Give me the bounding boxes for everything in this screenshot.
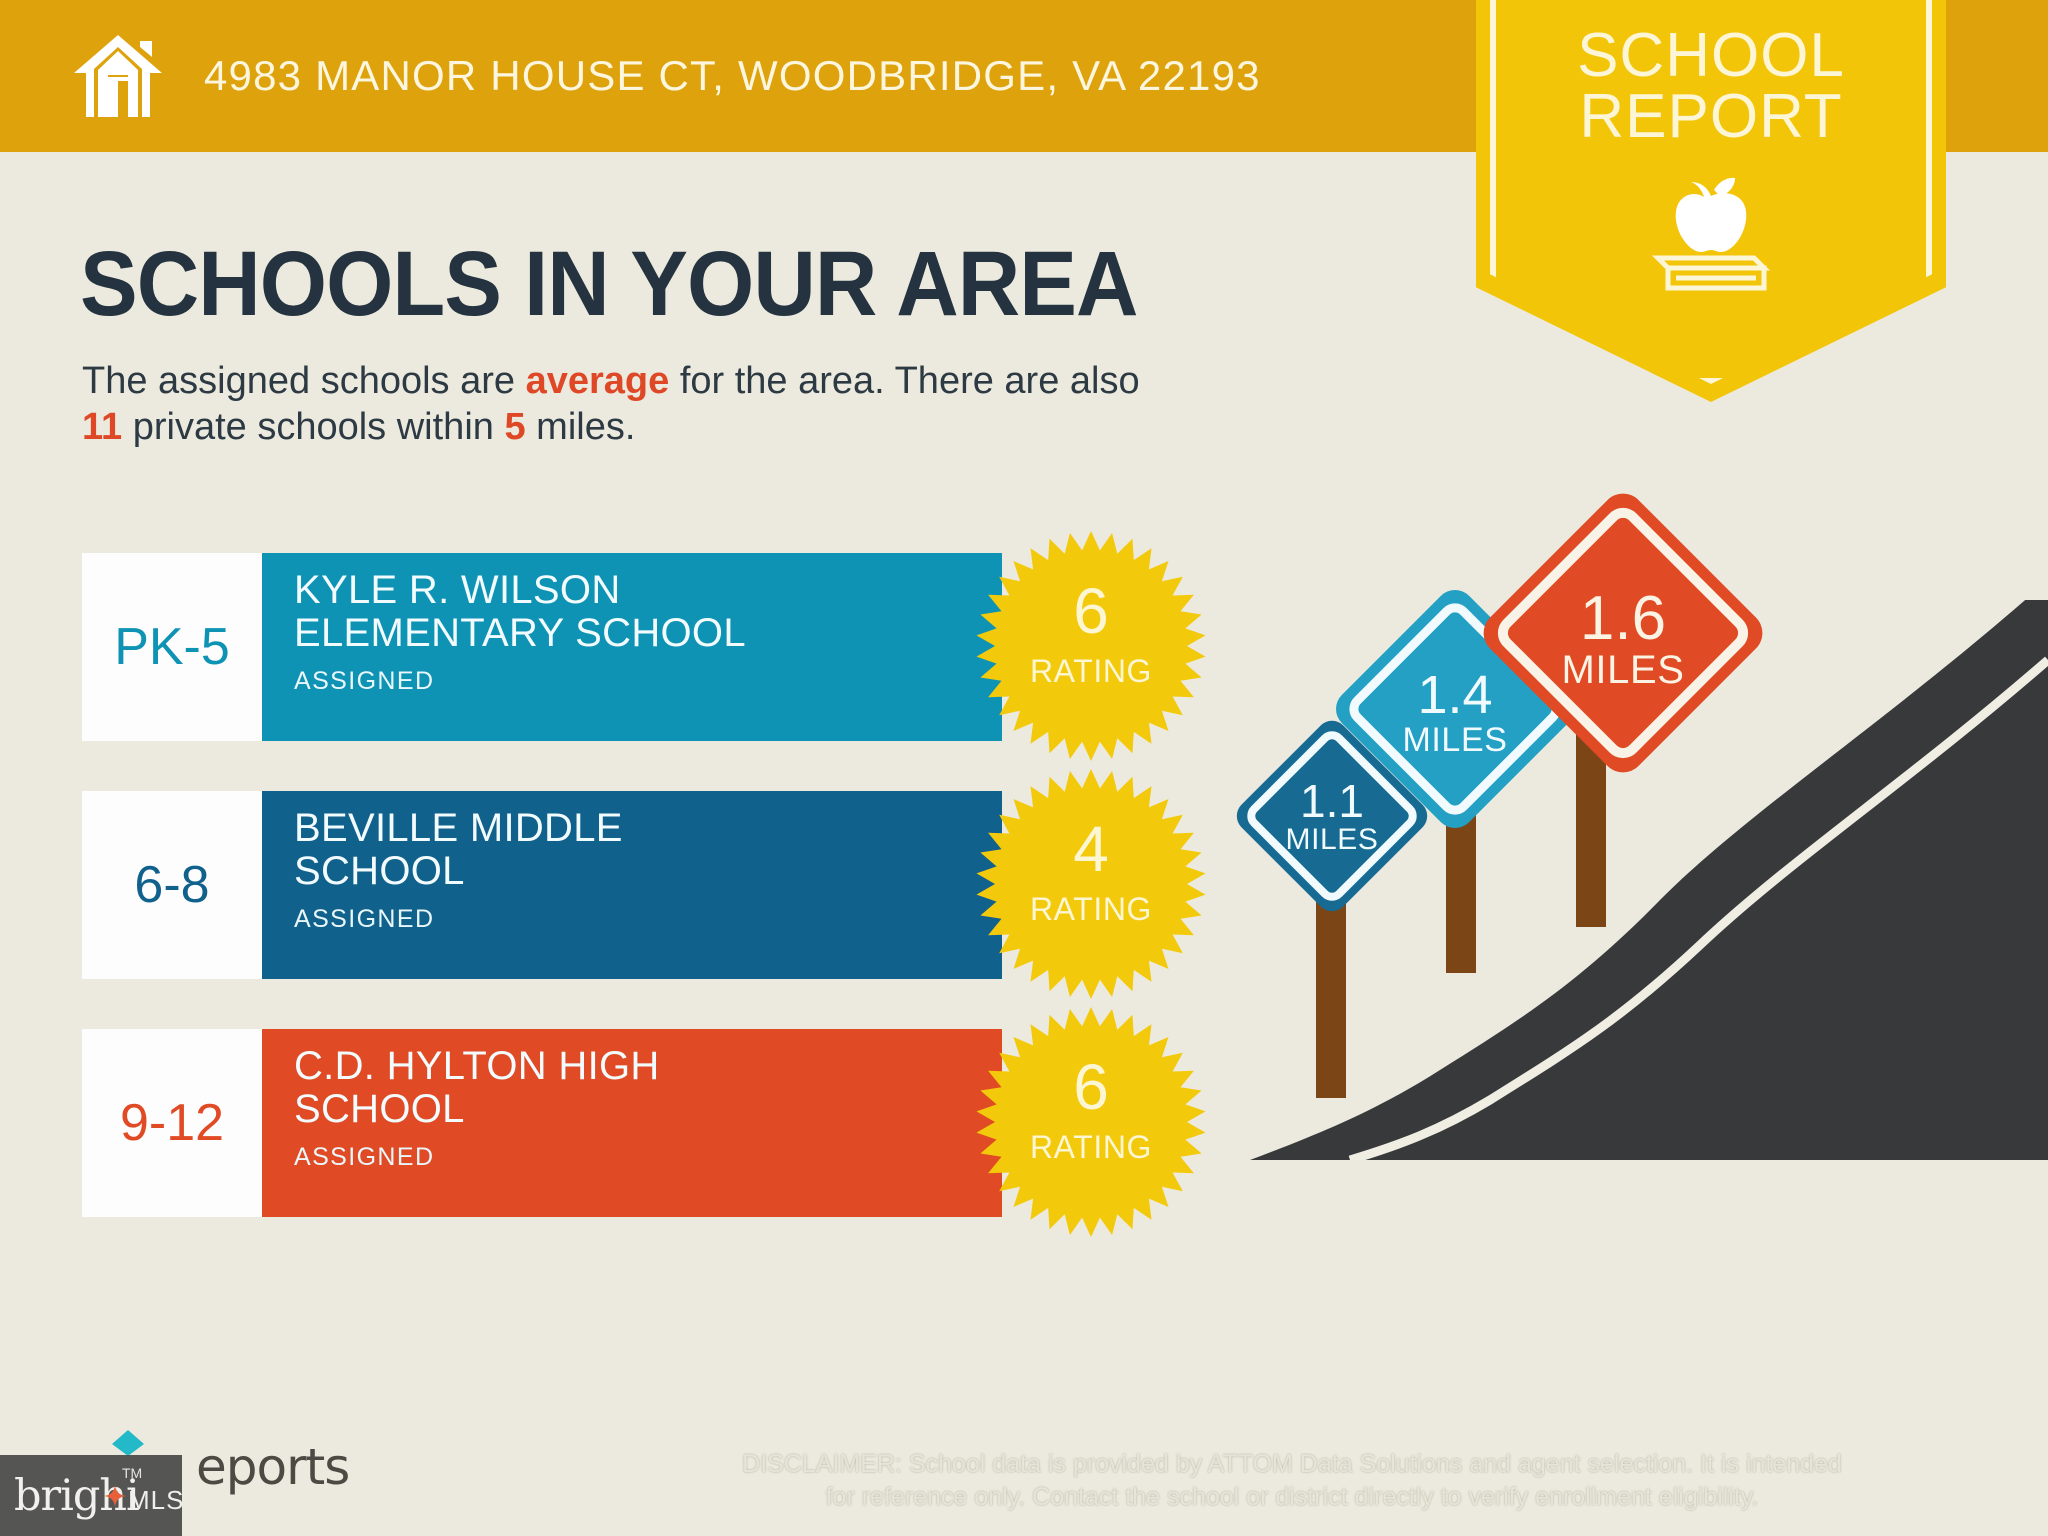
school-name-line1: BEVILLE MIDDLE bbox=[294, 806, 623, 850]
rating-value: 6 bbox=[976, 579, 1206, 643]
bright-mls-logo[interactable]: brighi TM MLS bbox=[0, 1455, 182, 1536]
distance-sign: 1.6 MILES bbox=[1458, 468, 1788, 798]
school-name-line2: SCHOOL bbox=[294, 849, 465, 893]
grade-label: PK-5 bbox=[114, 617, 230, 677]
school-name: BEVILLE MIDDLE SCHOOL bbox=[294, 807, 1002, 893]
subtitle-highlight-rating: average bbox=[526, 360, 670, 402]
subtitle-part-2: for the area. There are also bbox=[669, 360, 1139, 402]
school-grade-range: 9-12 bbox=[82, 1029, 262, 1217]
rating-label: RATING bbox=[976, 1129, 1206, 1166]
school-name-line2: SCHOOL bbox=[294, 1087, 465, 1131]
school-row[interactable]: PK-5 KYLE R. WILSON ELEMENTARY SCHOOL AS… bbox=[82, 553, 1142, 741]
school-name: C.D. HYLTON HIGH SCHOOL bbox=[294, 1045, 1002, 1131]
disclaimer-line-1: DISCLAIMER: School data is provided by A… bbox=[612, 1448, 1972, 1481]
school-name-bar: KYLE R. WILSON ELEMENTARY SCHOOL ASSIGNE… bbox=[262, 553, 1002, 741]
badge-title: SCHOOL REPORT bbox=[1476, 26, 1946, 148]
badge-title-line1: SCHOOL bbox=[1577, 21, 1845, 90]
school-name-bar: BEVILLE MIDDLE SCHOOL ASSIGNED bbox=[262, 791, 1002, 979]
subtitle-highlight-radius: 5 bbox=[504, 406, 525, 448]
page-title: SCHOOLS IN YOUR AREA bbox=[80, 232, 1138, 337]
subtitle-part-4: miles. bbox=[526, 406, 636, 448]
school-row[interactable]: 6-8 BEVILLE MIDDLE SCHOOL ASSIGNED 4 RAT… bbox=[82, 791, 1142, 979]
rating-value: 6 bbox=[976, 1055, 1206, 1119]
school-name-line2: ELEMENTARY SCHOOL bbox=[294, 611, 746, 655]
badge-title-line2: REPORT bbox=[1579, 82, 1842, 151]
page-subtitle: The assigned schools are average for the… bbox=[82, 358, 1142, 451]
school-name-line1: C.D. HYLTON HIGH bbox=[294, 1044, 660, 1088]
subtitle-highlight-count: 11 bbox=[82, 406, 122, 448]
disclaimer-text: DISCLAIMER: School data is provided by A… bbox=[612, 1448, 1972, 1513]
school-row[interactable]: 9-12 C.D. HYLTON HIGH SCHOOL ASSIGNED 6 … bbox=[82, 1029, 1142, 1217]
school-status: ASSIGNED bbox=[294, 667, 1002, 696]
rating-label: RATING bbox=[976, 891, 1206, 928]
book-icon bbox=[1658, 258, 1764, 288]
school-name: KYLE R. WILSON ELEMENTARY SCHOOL bbox=[294, 569, 1002, 655]
grade-label: 6-8 bbox=[134, 855, 209, 915]
disclaimer-line-2: for reference only. Contact the school o… bbox=[612, 1481, 1972, 1514]
school-grade-range: 6-8 bbox=[82, 791, 262, 979]
school-rating-badge: 6 RATING bbox=[976, 1007, 1206, 1237]
rating-label: RATING bbox=[976, 653, 1206, 690]
school-status: ASSIGNED bbox=[294, 1143, 1002, 1172]
apple-and-book-icon bbox=[1636, 168, 1786, 298]
school-rating-badge: 6 RATING bbox=[976, 531, 1206, 761]
partner-logo-mark bbox=[110, 1430, 146, 1456]
subtitle-part-1: The assigned schools are bbox=[82, 360, 526, 402]
mls-suffix-text: MLS bbox=[128, 1485, 184, 1516]
subtitle-part-3: private schools within bbox=[122, 406, 504, 448]
home-icon bbox=[72, 33, 164, 119]
diamond-sign-icon bbox=[1458, 468, 1788, 798]
grade-label: 9-12 bbox=[120, 1093, 224, 1153]
school-grade-range: PK-5 bbox=[82, 553, 262, 741]
property-address: 4983 MANOR HOUSE CT, WOODBRIDGE, VA 2219… bbox=[204, 52, 1261, 100]
school-name-bar: C.D. HYLTON HIGH SCHOOL ASSIGNED bbox=[262, 1029, 1002, 1217]
trademark-icon: TM bbox=[122, 1465, 142, 1481]
spark-icon bbox=[104, 1485, 126, 1507]
school-status: ASSIGNED bbox=[294, 905, 1002, 934]
header-content: 4983 MANOR HOUSE CT, WOODBRIDGE, VA 2219… bbox=[72, 0, 1261, 152]
school-list: PK-5 KYLE R. WILSON ELEMENTARY SCHOOL AS… bbox=[82, 553, 1142, 1267]
school-report-badge: SCHOOL REPORT bbox=[1476, 0, 1946, 402]
rating-value: 4 bbox=[976, 817, 1206, 881]
partner-logo-text: eports bbox=[196, 1438, 349, 1496]
school-rating-badge: 4 RATING bbox=[976, 769, 1206, 999]
apple-icon bbox=[1676, 178, 1747, 252]
school-name-line1: KYLE R. WILSON bbox=[294, 568, 621, 612]
road-scene-illustration: 1.1 MILES 1.4 MILES 1.6 MILES bbox=[1190, 600, 2048, 1160]
